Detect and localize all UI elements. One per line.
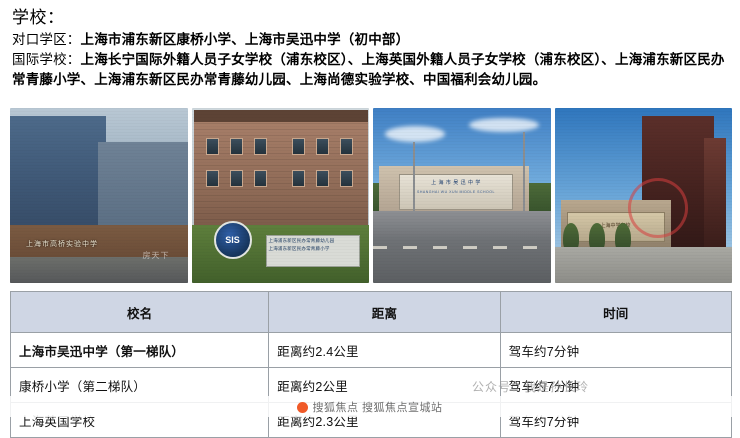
- international-school-value: 上海长宁国际外籍人员子女学校（浦东校区）、上海英国外籍人员子女学校（浦东校区）、…: [12, 52, 725, 87]
- international-school-label: 国际学校：: [12, 52, 81, 67]
- table-row: 上海市吴迅中学（第一梯队） 距离约2.4公里 驾车约7分钟: [11, 333, 732, 368]
- gate-text-cn: 上 海 市 吴 迅 中 学: [400, 179, 512, 186]
- gate-text-en: SHANGHAI WU XUN MIDDLE SCHOOL: [400, 190, 512, 194]
- text-block: 学校： 对口学区：上海市浦东新区康桥小学、上海市吴迅中学（初中部） 国际学校：上…: [12, 6, 728, 90]
- school-district-label: 对口学区：: [12, 32, 81, 47]
- wuxun-middle-school-photo: 上 海 市 吴 迅 中 学 SHANGHAI WU XUN MIDDLE SCH…: [373, 108, 551, 283]
- bottom-watermark-bar: 搜狐焦点 搜狐焦点宣城站: [0, 396, 740, 417]
- column-header-distance: 距离: [269, 292, 500, 333]
- roof-band: [194, 110, 368, 122]
- board-line-1: 上海浦东新区民办常青藤幼儿园: [267, 236, 359, 244]
- school-district-value: 上海市浦东新区康桥小学、上海市吴迅中学（初中部）: [81, 32, 410, 47]
- column-header-name: 校名: [11, 292, 269, 333]
- window-icon: [254, 170, 267, 187]
- cell-distance: 距离约2.4公里: [269, 333, 500, 368]
- sohu-logo-icon: [297, 402, 308, 413]
- center-watermark: 公众号：我是孙长玲: [472, 378, 589, 395]
- board-line-2: 上海浦东新区民办常青藤小学: [267, 244, 359, 252]
- window-icon: [340, 138, 353, 155]
- photo-strip: 上海市高桥实验中学 房天下 SIS 上海浦东新区民办常青藤幼儿园 上海浦东新区民…: [10, 108, 732, 283]
- window-icon: [206, 138, 219, 155]
- page-title: 学校：: [12, 6, 728, 30]
- window-icon: [292, 138, 305, 155]
- sis-international-school-photo: SIS 上海浦东新区民办常青藤幼儿园 上海浦东新区民办常青藤小学: [192, 108, 370, 283]
- school-name-board: 上海浦东新区民办常青藤幼儿园 上海浦东新区民办常青藤小学: [266, 235, 360, 267]
- shanghai-school-gate-photo: 上海市高桥实验中学 房天下: [10, 108, 188, 283]
- tower-building-secondary: [704, 138, 726, 248]
- window-icon: [230, 170, 243, 187]
- cell-school-name: 上海市吴迅中学（第一梯队）: [11, 333, 269, 368]
- ground-plaza: [555, 247, 733, 283]
- table-body: 上海市吴迅中学（第一梯队） 距离约2.4公里 驾车约7分钟 康桥小学（第二梯队）…: [11, 333, 732, 438]
- window-icon: [316, 170, 329, 187]
- cell-time: 驾车约7分钟: [500, 333, 731, 368]
- window-icon: [230, 138, 243, 155]
- cloud-shape: [469, 118, 539, 132]
- window-icon: [316, 138, 329, 155]
- school-logo-badge: SIS: [214, 221, 252, 259]
- road-marking: [373, 246, 551, 249]
- photo-watermark-text: 房天下: [143, 250, 170, 261]
- table-header: 校名 距离 时间: [11, 292, 732, 333]
- window-icon: [254, 138, 267, 155]
- school-logo-text: SIS: [216, 223, 250, 257]
- column-header-time: 时间: [500, 292, 731, 333]
- bottom-watermark-text: 搜狐焦点 搜狐焦点宣城站: [312, 399, 442, 415]
- cloud-shape: [385, 126, 445, 142]
- window-icon: [292, 170, 305, 187]
- window-icon: [206, 170, 219, 187]
- school-gate-sign: 上 海 市 吴 迅 中 学 SHANGHAI WU XUN MIDDLE SCH…: [399, 174, 513, 210]
- table-header-row: 校名 距离 时间: [11, 292, 732, 333]
- window-icon: [340, 170, 353, 187]
- lamp-post: [413, 142, 415, 222]
- photo-caption-text: 上海市高桥实验中学: [26, 239, 98, 249]
- international-school-line: 国际学校：上海长宁国际外籍人员子女学校（浦东校区）、上海英国外籍人员子女学校（浦…: [12, 50, 728, 90]
- school-district-line: 对口学区：上海市浦东新区康桥小学、上海市吴迅中学（初中部）: [12, 30, 728, 50]
